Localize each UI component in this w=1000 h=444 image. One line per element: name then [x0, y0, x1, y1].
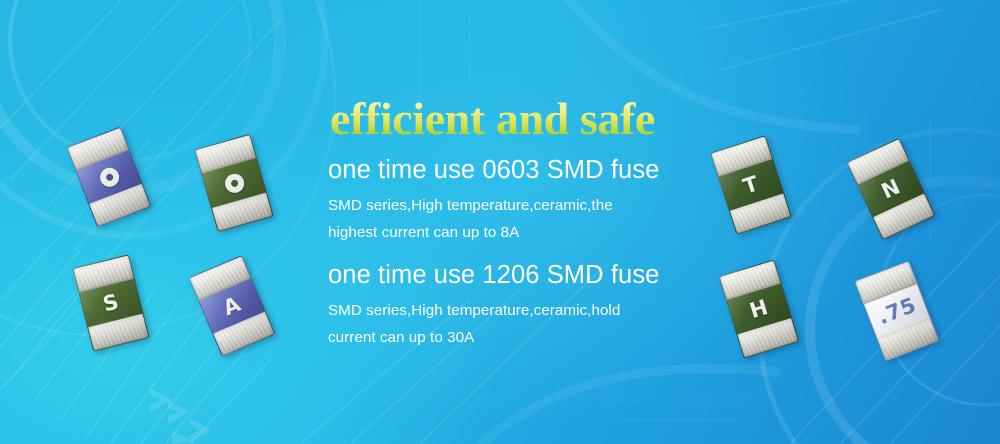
description-line: current can up to 30A	[328, 324, 698, 351]
chip-marking-ring	[97, 165, 122, 190]
smd-fuse-1206-green-t: T	[710, 135, 792, 235]
chip-body	[67, 126, 152, 227]
chip-end-cap-top	[194, 134, 257, 174]
smd-fuse-0603-blue-dot	[67, 126, 152, 227]
chip-body: H	[719, 259, 800, 358]
product-description-1206: SMD series,High temperature,ceramic,hold…	[328, 297, 698, 351]
product-block-0603: one time use 0603 SMD fuse SMD series,Hi…	[328, 155, 698, 246]
product-banner: S A T N H	[0, 0, 1000, 444]
smd-fuse-0603-blue-a: A	[189, 255, 276, 357]
chip-end-cap-bottom	[211, 192, 274, 232]
product-description-0603: SMD series,High temperature,ceramic,the …	[328, 192, 698, 246]
smd-fuse-0603-green-ring	[194, 134, 273, 233]
chip-marking-ring	[222, 171, 246, 195]
chip-end-cap-top	[67, 126, 130, 170]
smd-fuse-1206-white-75: .75	[855, 260, 940, 361]
description-line: SMD series,High temperature,ceramic,the	[328, 192, 698, 219]
banner-headline: efficient and safe	[330, 96, 698, 143]
chip-body	[194, 134, 273, 233]
chip-body: N	[847, 138, 936, 240]
banner-copy: efficient and safe one time use 0603 SMD…	[328, 96, 698, 364]
chip-body: A	[189, 255, 276, 357]
product-title-1206: one time use 1206 SMD fuse	[328, 260, 698, 290]
chip-end-cap-bottom	[87, 313, 149, 351]
description-line: highest current can up to 8A	[328, 219, 698, 246]
smd-fuse-1206-green-h: H	[719, 259, 800, 358]
chip-body: S	[72, 254, 149, 351]
smd-fuse-1206-green-n: N	[847, 138, 936, 240]
smd-fuse-0603-green-s: S	[72, 254, 149, 351]
product-block-1206: one time use 1206 SMD fuse SMD series,Hi…	[328, 260, 698, 351]
description-line: SMD series,High temperature,ceramic,hold	[328, 297, 698, 324]
chip-end-cap-bottom	[88, 183, 151, 227]
product-title-0603: one time use 0603 SMD fuse	[328, 155, 698, 185]
chip-body: .75	[855, 260, 940, 361]
chip-body: T	[710, 135, 792, 235]
